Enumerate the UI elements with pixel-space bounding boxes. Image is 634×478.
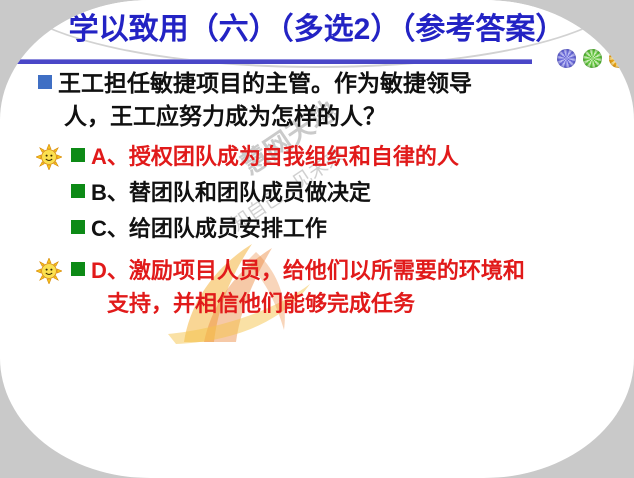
square-bullet-green-icon xyxy=(71,184,85,198)
question-text-2: 人，王工应努力成为怎样的人？ xyxy=(64,103,386,129)
square-bullet-green-icon xyxy=(71,220,85,234)
sun-icon xyxy=(36,144,62,170)
sphere-blue-icon xyxy=(557,49,576,68)
question-line-2: 人，王工应努力成为怎样的人？ xyxy=(64,101,634,132)
option-b-content: B、替团队和团队成员做决定 xyxy=(71,176,371,209)
option-row-c[interactable]: C、给团队成员安排工作 xyxy=(0,212,634,248)
option-a-content: A、授权团队成为自我组织和自律的人 xyxy=(71,140,459,173)
square-bullet-green-icon xyxy=(71,262,85,276)
option-a-letter: A、 xyxy=(91,144,129,169)
slide-canvas: 慧网天地 知自己 · 见未来 学以致用（六）（多选2）（参考答案） 王工担任敏捷… xyxy=(0,0,634,478)
decorative-sphere-row xyxy=(557,49,628,68)
option-d-content: D、激励项目人员，给他们以所需要的环境和 支持，并相信他们能够完成任务 xyxy=(71,254,525,320)
option-d-text: 激励项目人员，给他们以所需要的环境和 xyxy=(129,258,525,283)
option-row-a[interactable]: A、授权团队成为自我组织和自律的人 xyxy=(0,140,634,176)
square-bullet-blue-icon xyxy=(38,75,52,89)
slide-body: 王工担任敏捷项目的主管。作为敏捷领导 人，王工应努力成为怎样的人？ xyxy=(0,68,634,320)
option-row-d[interactable]: D、激励项目人员，给他们以所需要的环境和 支持，并相信他们能够完成任务 xyxy=(0,254,634,320)
option-b-text: 替团队和团队成员做决定 xyxy=(129,180,371,205)
slide-frame: 慧网天地 知自己 · 见未来 学以致用（六）（多选2）（参考答案） 王工担任敏捷… xyxy=(0,0,634,478)
option-b-letter: B、 xyxy=(91,180,129,205)
option-c-content: C、给团队成员安排工作 xyxy=(71,212,327,245)
sphere-green-icon xyxy=(583,49,602,68)
option-d-letter: D、 xyxy=(91,258,129,283)
square-bullet-green-icon xyxy=(71,148,85,162)
question-line-1: 王工担任敏捷项目的主管。作为敏捷领导 xyxy=(38,68,634,99)
option-row-b[interactable]: B、替团队和团队成员做决定 xyxy=(0,176,634,212)
page-title: 学以致用（六）（多选2）（参考答案） xyxy=(0,10,634,50)
option-c-letter: C、 xyxy=(91,216,129,241)
title-underline xyxy=(5,59,532,64)
option-c-text: 给团队成员安排工作 xyxy=(129,216,327,241)
sun-icon xyxy=(36,258,62,284)
option-a-text: 授权团队成为自我组织和自律的人 xyxy=(129,144,459,169)
sphere-orange-icon xyxy=(609,49,628,68)
question-text-1: 王工担任敏捷项目的主管。作为敏捷领导 xyxy=(58,70,472,96)
option-d-text-line2: 支持，并相信他们能够完成任务 xyxy=(107,287,525,320)
